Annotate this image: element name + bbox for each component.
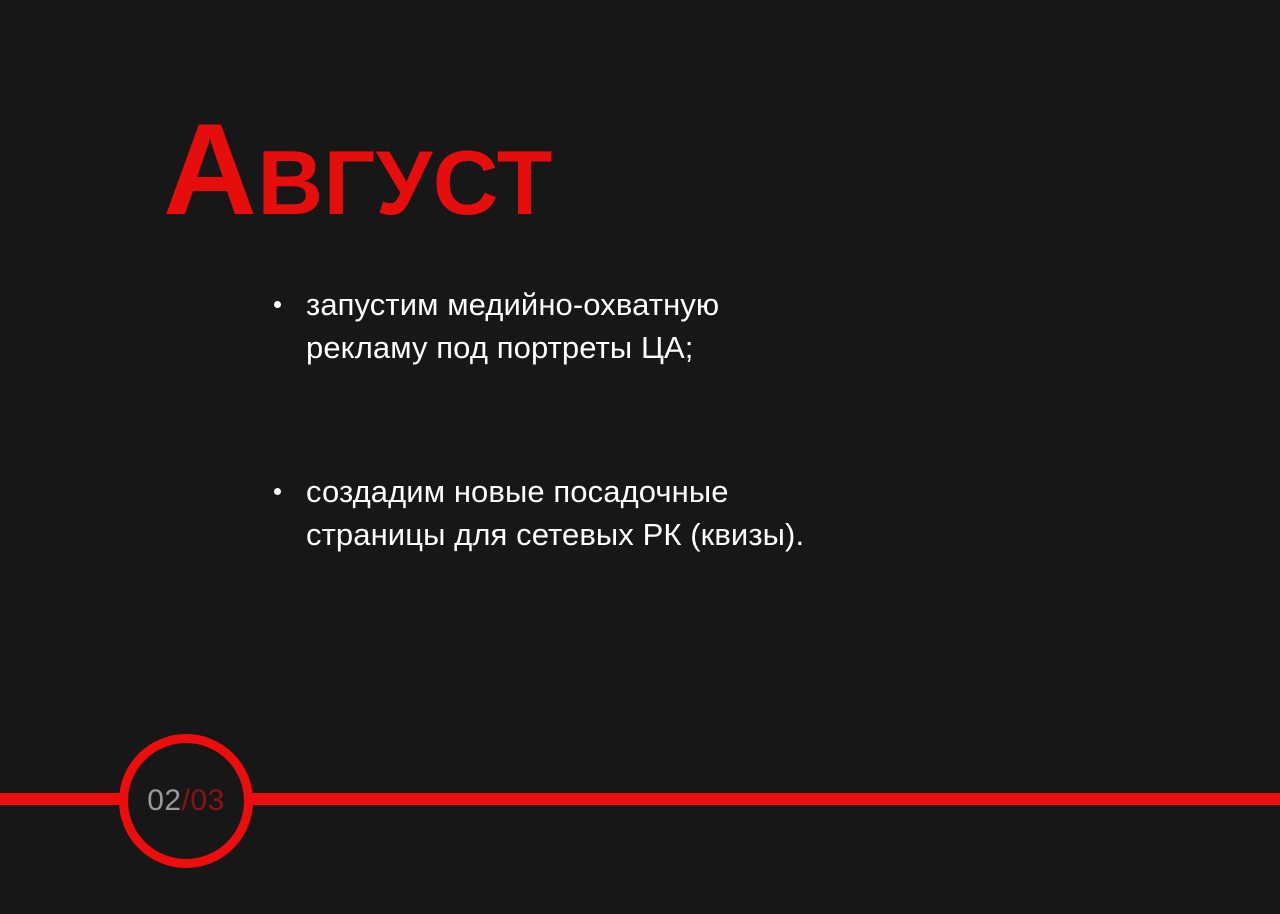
slide-canvas: Август запустим медийно-охватную рекламу… xyxy=(0,0,1280,914)
page-title: Август xyxy=(163,104,553,234)
list-item-line: страницы для сетевых РК (квизы). xyxy=(306,513,966,556)
bullet-dot-icon xyxy=(274,301,281,308)
page-number-total: 03 xyxy=(190,784,224,817)
page-number-current: 02 xyxy=(147,784,181,817)
page-indicator-circle: 02/03 xyxy=(119,734,253,868)
bullet-list: запустим медийно-охватную рекламу под по… xyxy=(266,283,966,556)
bullet-dot-icon xyxy=(274,488,281,495)
list-item-line: создадим новые посадочные xyxy=(306,470,966,513)
list-item-line: запустим медийно-охватную xyxy=(306,283,966,326)
list-item: запустим медийно-охватную рекламу под по… xyxy=(266,283,966,369)
list-item-line: рекламу под портреты ЦА; xyxy=(306,326,966,369)
page-indicator-text: 02/03 xyxy=(147,786,225,816)
list-item: создадим новые посадочные страницы для с… xyxy=(266,470,966,556)
